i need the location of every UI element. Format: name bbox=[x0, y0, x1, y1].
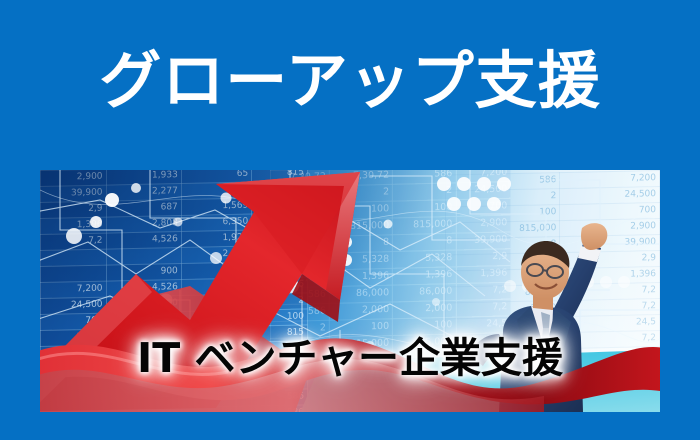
page-title: グローアップ支援 bbox=[0, 44, 700, 118]
promo-banner: グローアップ支援 2,9001,9336581539,9002,2775682,… bbox=[0, 0, 700, 440]
hero-caption: IT ベンチャー企業支援 bbox=[0, 332, 700, 384]
